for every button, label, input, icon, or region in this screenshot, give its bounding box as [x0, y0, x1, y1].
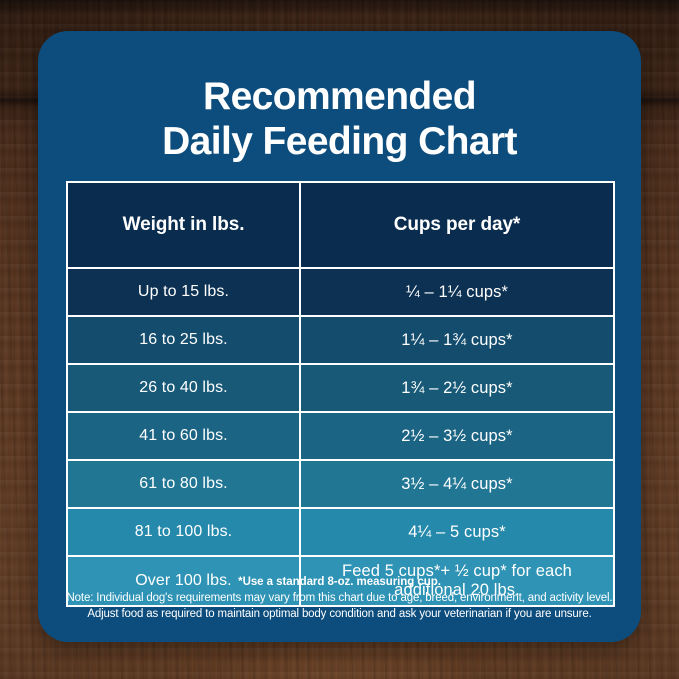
cell-cups: 2½ – 3½ cups*	[300, 412, 614, 460]
cell-weight: Up to 15 lbs.	[67, 268, 300, 316]
feeding-chart-card: Recommended Daily Feeding Chart Weight i…	[38, 31, 641, 642]
footnotes-block: *Use a standard 8-oz. measuring cup. Not…	[38, 576, 641, 622]
table-row: Up to 15 lbs. ¼ – 1¼ cups*	[67, 268, 614, 316]
cell-weight: 41 to 60 lbs.	[67, 412, 300, 460]
footnote-measuring-cup: *Use a standard 8-oz. measuring cup.	[60, 576, 619, 588]
cell-cups: 4¼ – 5 cups*	[300, 508, 614, 556]
cell-cups: 1¼ – 1¾ cups*	[300, 316, 614, 364]
table-row: 41 to 60 lbs. 2½ – 3½ cups*	[67, 412, 614, 460]
table-row: 81 to 100 lbs. 4¼ – 5 cups*	[67, 508, 614, 556]
cell-weight: 61 to 80 lbs.	[67, 460, 300, 508]
cell-weight: 16 to 25 lbs.	[67, 316, 300, 364]
chart-title-line-1: Recommended	[38, 74, 641, 119]
table-row: 61 to 80 lbs. 3½ – 4¼ cups*	[67, 460, 614, 508]
column-header-cups: Cups per day*	[300, 182, 614, 268]
cell-cups: 1¾ – 2½ cups*	[300, 364, 614, 412]
cell-cups: ¼ – 1¼ cups*	[300, 268, 614, 316]
chart-title-line-2: Daily Feeding Chart	[38, 119, 641, 164]
feeding-chart-table: Weight in lbs. Cups per day* Up to 15 lb…	[66, 181, 615, 607]
footnote-note-line-1: Note: Individual dog's requirements may …	[60, 591, 619, 607]
column-header-weight: Weight in lbs.	[67, 182, 300, 268]
footnote-note-line-2: Adjust food as required to maintain opti…	[60, 607, 619, 623]
chart-title-block: Recommended Daily Feeding Chart	[38, 31, 641, 164]
table-row: 26 to 40 lbs. 1¾ – 2½ cups*	[67, 364, 614, 412]
table-row: 16 to 25 lbs. 1¼ – 1¾ cups*	[67, 316, 614, 364]
cell-cups: 3½ – 4¼ cups*	[300, 460, 614, 508]
cell-weight: 26 to 40 lbs.	[67, 364, 300, 412]
table-header-row: Weight in lbs. Cups per day*	[67, 182, 614, 268]
cell-weight: 81 to 100 lbs.	[67, 508, 300, 556]
